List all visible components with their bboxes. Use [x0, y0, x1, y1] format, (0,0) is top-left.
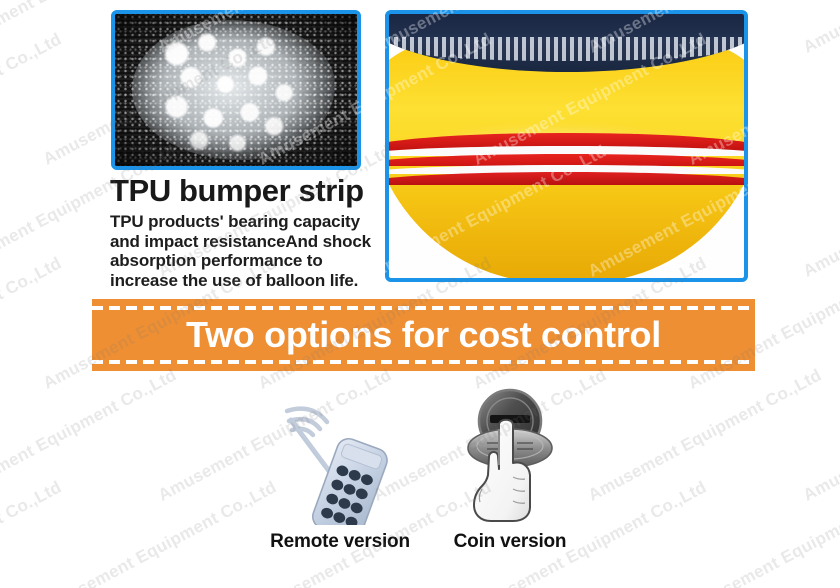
- tpu-description: TPU products' bearing capacity and impac…: [110, 212, 378, 290]
- promo-page: TPU bumper strip TPU products' bearing c…: [0, 0, 840, 588]
- bumper-stripe-red-middle: [389, 154, 744, 166]
- watermark-text: Amusement Equipment Co.,Ltd: [685, 477, 840, 588]
- watermark-text: Amusement Equipment Co.,Ltd: [0, 253, 65, 393]
- bumper-stripe-red-bottom: [389, 172, 744, 184]
- banner-dashed-line-top: [92, 306, 755, 310]
- remote-control-icon: [255, 385, 425, 525]
- option-remote-label: Remote version: [255, 531, 425, 553]
- watermark-text: Amusement Equipment Co.,Ltd: [800, 0, 840, 58]
- cost-control-banner-title: Two options for cost control: [92, 316, 755, 354]
- watermark-text: Amusement Equipment Co.,Ltd: [0, 365, 180, 505]
- option-coin-version[interactable]: Coin version: [425, 385, 595, 553]
- option-remote-version[interactable]: Remote version: [255, 385, 425, 553]
- tpu-heading: TPU bumper strip: [110, 174, 378, 208]
- coin-insert-hand-icon: [425, 385, 595, 525]
- bumper-photo: [385, 10, 748, 282]
- watermark-text: Amusement Equipment Co.,Ltd: [800, 141, 840, 281]
- watermark-text: Amusement Equipment Co.,Ltd: [585, 365, 825, 505]
- watermark-text: Amusement Equipment Co.,Ltd: [0, 29, 65, 169]
- tpu-pellets-photo: [111, 10, 361, 170]
- tpu-text-block: TPU bumper strip TPU products' bearing c…: [110, 174, 378, 290]
- bumper-image: [389, 14, 744, 278]
- remote-control-art: [255, 385, 425, 525]
- pellets-vignette: [115, 14, 357, 166]
- watermark-text: Amusement Equipment Co.,Ltd: [800, 365, 840, 505]
- watermark-text: Amusement Equipment Co.,Ltd: [40, 477, 280, 588]
- cost-control-banner: Two options for cost control: [92, 299, 755, 371]
- watermark-text: Amusement Equipment Co.,Ltd: [0, 477, 65, 588]
- tpu-pellets-image: [115, 14, 357, 166]
- coin-insert-art: [425, 385, 595, 525]
- banner-dashed-line-bottom: [92, 360, 755, 364]
- option-coin-label: Coin version: [425, 531, 595, 553]
